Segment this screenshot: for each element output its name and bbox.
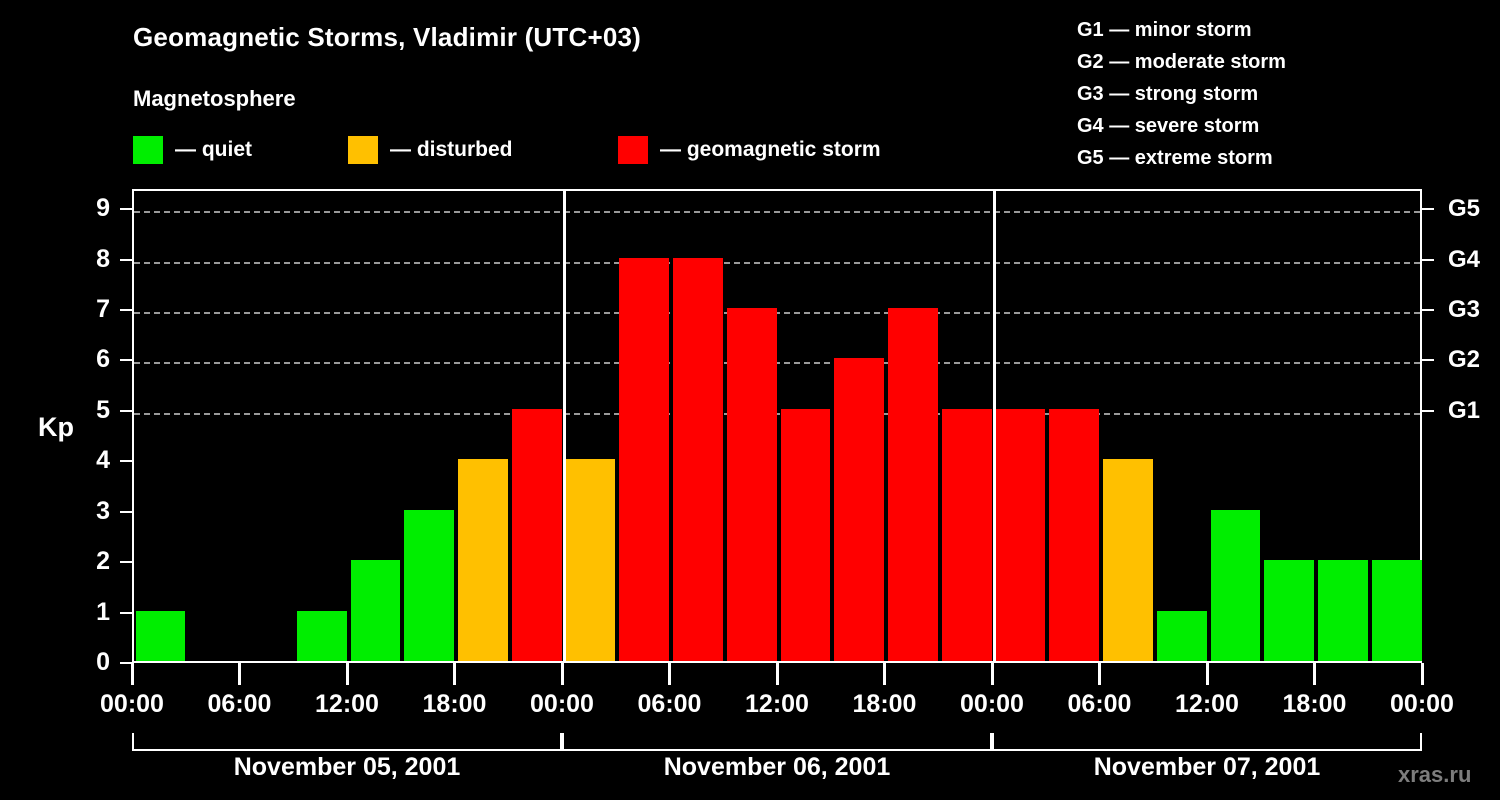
y-tick-label-3: 3 bbox=[70, 499, 110, 524]
bar-14[interactable] bbox=[888, 308, 938, 661]
y-tick-mark-6 bbox=[120, 359, 132, 361]
y-tick-mark-8 bbox=[120, 259, 132, 261]
x-tick-mark-9 bbox=[1098, 663, 1101, 685]
legend-swatch-geomagnetic-storm bbox=[618, 136, 648, 164]
y-tick-label-6: 6 bbox=[70, 347, 110, 372]
y-tick-label-9: 9 bbox=[70, 196, 110, 221]
plot-inner bbox=[134, 191, 1420, 661]
y-tick-label-7: 7 bbox=[70, 297, 110, 322]
bar-10[interactable] bbox=[673, 258, 723, 661]
gscale-row-g1: G1 — minor storm bbox=[1077, 14, 1407, 46]
x-tick-mark-6 bbox=[776, 663, 779, 685]
bar-21[interactable] bbox=[1264, 560, 1314, 661]
y-tick-mark-2 bbox=[120, 561, 132, 563]
y-tick-mark-9 bbox=[120, 208, 132, 210]
bar-12[interactable] bbox=[781, 409, 831, 661]
bar-20[interactable] bbox=[1211, 510, 1261, 661]
bar-0[interactable] bbox=[136, 611, 186, 661]
bar-13[interactable] bbox=[834, 358, 884, 661]
date-bracket-2 bbox=[992, 733, 1422, 751]
y-tick-label-5: 5 bbox=[70, 398, 110, 423]
gridline-kp-8 bbox=[134, 262, 1420, 264]
x-tick-mark-3 bbox=[453, 663, 456, 685]
page-title: Geomagnetic Storms, Vladimir (UTC+03) bbox=[133, 22, 641, 53]
g-tick-label-g5: G5 bbox=[1448, 197, 1500, 221]
y-tick-mark-1 bbox=[120, 612, 132, 614]
bar-19[interactable] bbox=[1157, 611, 1207, 661]
g-tick-mark-g1 bbox=[1422, 410, 1434, 412]
date-bracket-0 bbox=[132, 733, 562, 751]
g-tick-mark-g2 bbox=[1422, 359, 1434, 361]
x-tick-label-12: 00:00 bbox=[1352, 690, 1492, 719]
g-tick-mark-g5 bbox=[1422, 208, 1434, 210]
legend-label-quiet: — quiet bbox=[175, 138, 252, 162]
watermark: xras.ru bbox=[1398, 762, 1471, 788]
g-tick-label-g4: G4 bbox=[1448, 248, 1500, 272]
y-tick-label-1: 1 bbox=[70, 600, 110, 625]
gscale-row-g5: G5 — extreme storm bbox=[1077, 142, 1407, 174]
bar-4[interactable] bbox=[351, 560, 401, 661]
gscale-row-g3: G3 — strong storm bbox=[1077, 78, 1407, 110]
legend-label-geomagnetic-storm: — geomagnetic storm bbox=[660, 138, 881, 162]
g-tick-label-g1: G1 bbox=[1448, 399, 1500, 423]
bar-5[interactable] bbox=[404, 510, 454, 661]
bar-15[interactable] bbox=[942, 409, 992, 661]
gridline-kp-9 bbox=[134, 211, 1420, 213]
legend-entry-quiet: — quiet bbox=[133, 135, 252, 165]
x-tick-mark-8 bbox=[991, 663, 994, 685]
g-tick-mark-g3 bbox=[1422, 309, 1434, 311]
x-tick-mark-1 bbox=[238, 663, 241, 685]
legend-label-disturbed: — disturbed bbox=[390, 138, 513, 162]
g-tick-label-g2: G2 bbox=[1448, 348, 1500, 372]
magnetosphere-heading: Magnetosphere bbox=[133, 86, 296, 112]
x-tick-mark-12 bbox=[1421, 663, 1424, 685]
y-tick-label-8: 8 bbox=[70, 247, 110, 272]
day-divider bbox=[563, 191, 566, 661]
gridline-kp-6 bbox=[134, 362, 1420, 364]
x-tick-mark-4 bbox=[561, 663, 564, 685]
bar-7[interactable] bbox=[512, 409, 562, 661]
x-tick-mark-0 bbox=[131, 663, 134, 685]
bar-17[interactable] bbox=[1049, 409, 1099, 661]
x-tick-mark-7 bbox=[883, 663, 886, 685]
y-tick-label-4: 4 bbox=[70, 448, 110, 473]
y-axis-title: Kp bbox=[38, 412, 74, 443]
bar-9[interactable] bbox=[619, 258, 669, 661]
gscale-legend: G1 — minor stormG2 — moderate stormG3 — … bbox=[1077, 14, 1407, 174]
x-tick-mark-5 bbox=[668, 663, 671, 685]
gridline-kp-7 bbox=[134, 312, 1420, 314]
legend-entry-geomagnetic-storm: — geomagnetic storm bbox=[618, 135, 881, 165]
y-tick-label-2: 2 bbox=[70, 549, 110, 574]
bar-3[interactable] bbox=[297, 611, 347, 661]
bar-6[interactable] bbox=[458, 459, 508, 661]
x-tick-mark-10 bbox=[1206, 663, 1209, 685]
bar-23[interactable] bbox=[1372, 560, 1422, 661]
x-tick-mark-2 bbox=[346, 663, 349, 685]
y-tick-mark-5 bbox=[120, 410, 132, 412]
bar-22[interactable] bbox=[1318, 560, 1368, 661]
date-label-1: November 06, 2001 bbox=[562, 753, 992, 782]
date-bracket-1 bbox=[562, 733, 992, 751]
legend-swatch-quiet bbox=[133, 136, 163, 164]
legend-swatch-disturbed bbox=[348, 136, 378, 164]
legend-entry-disturbed: — disturbed bbox=[348, 135, 513, 165]
gscale-row-g4: G4 — severe storm bbox=[1077, 110, 1407, 142]
gridline-kp-5 bbox=[134, 413, 1420, 415]
bar-16[interactable] bbox=[996, 409, 1046, 661]
gscale-row-g2: G2 — moderate storm bbox=[1077, 46, 1407, 78]
y-tick-mark-3 bbox=[120, 511, 132, 513]
day-divider bbox=[993, 191, 996, 661]
x-tick-mark-11 bbox=[1313, 663, 1316, 685]
plot-area bbox=[132, 189, 1422, 663]
g-tick-mark-g4 bbox=[1422, 259, 1434, 261]
bar-8[interactable] bbox=[566, 459, 616, 661]
y-tick-mark-4 bbox=[120, 460, 132, 462]
g-tick-label-g3: G3 bbox=[1448, 298, 1500, 322]
y-tick-mark-7 bbox=[120, 309, 132, 311]
bar-11[interactable] bbox=[727, 308, 777, 661]
date-label-0: November 05, 2001 bbox=[132, 753, 562, 782]
bar-18[interactable] bbox=[1103, 459, 1153, 661]
y-tick-label-0: 0 bbox=[70, 650, 110, 675]
date-label-2: November 07, 2001 bbox=[992, 753, 1422, 782]
